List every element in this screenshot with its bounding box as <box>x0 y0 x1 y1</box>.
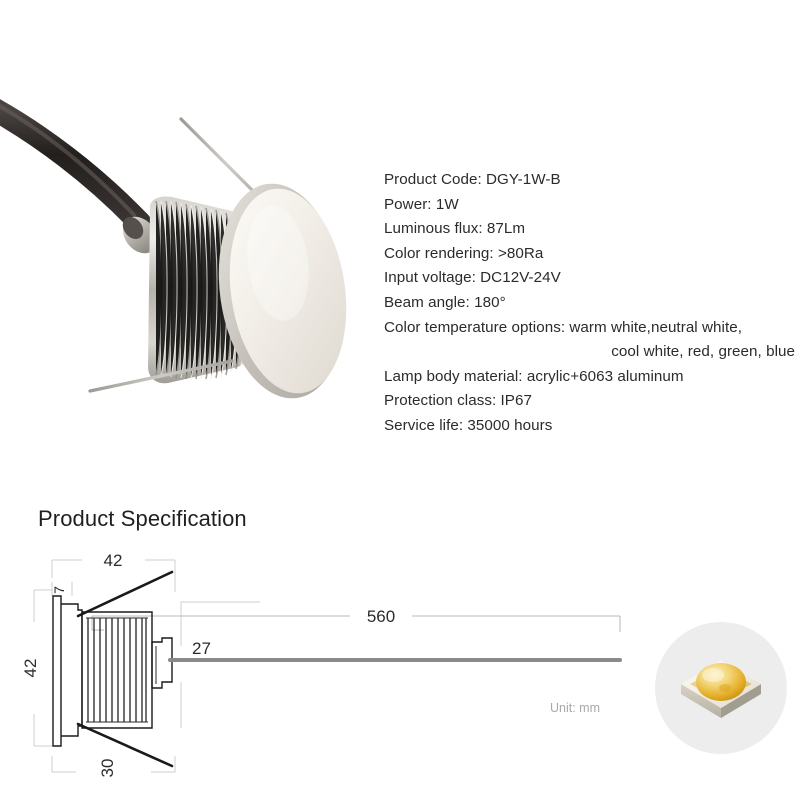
spec-input-voltage: Input voltage: DC12V-24V <box>384 266 796 291</box>
dimension-body-depth: 27 <box>181 602 260 728</box>
spec-beam-angle: Beam angle: 180° <box>384 291 796 316</box>
dimension-flange-diameter-top: 42 <box>52 551 175 592</box>
dim-label-27: 27 <box>192 639 211 658</box>
product-photo <box>0 95 380 460</box>
spec-luminous-flux: Luminous flux: 87Lm <box>384 217 796 242</box>
dim-label-42-top: 42 <box>104 551 123 570</box>
unit-label: Unit: mm <box>550 701 600 715</box>
dim-label-42-left: 42 <box>21 659 40 678</box>
led-chip-inset <box>655 622 787 754</box>
power-cable <box>0 104 140 223</box>
spec-service-life: Service life: 35000 hours <box>384 414 796 439</box>
technical-drawing: 42 7 42 30 <box>20 550 660 785</box>
spec-color-rendering: Color rendering: >80Ra <box>384 242 796 267</box>
dimension-flange-thickness: 7 <box>51 582 72 596</box>
product-spec-page: Product Code: DGY-1W-B Power: 1W Luminou… <box>0 0 800 800</box>
spec-power: Power: 1W <box>384 193 796 218</box>
drawing-fins <box>88 618 146 722</box>
drawing-spring-clips <box>78 572 172 766</box>
specification-text-block: Product Code: DGY-1W-B Power: 1W Luminou… <box>384 168 796 439</box>
spec-product-code: Product Code: DGY-1W-B <box>384 168 796 193</box>
dim-label-30: 30 <box>98 759 117 778</box>
dimension-flange-diameter-left: 42 <box>21 590 52 746</box>
spec-lamp-body-material: Lamp body material: acrylic+6063 aluminu… <box>384 365 796 390</box>
spec-color-temperature-cont: cool white, red, green, blue <box>384 340 796 365</box>
page-title: Product Specification <box>38 506 247 532</box>
dim-label-7: 7 <box>51 586 67 594</box>
drawing-cable-gland <box>152 638 172 688</box>
dimension-cable-length: 560 <box>92 607 620 632</box>
spec-color-temperature: Color temperature options: warm white,ne… <box>384 316 796 341</box>
led-dome <box>696 663 746 701</box>
spec-protection-class: Protection class: IP67 <box>384 389 796 414</box>
dim-label-560: 560 <box>367 607 395 626</box>
